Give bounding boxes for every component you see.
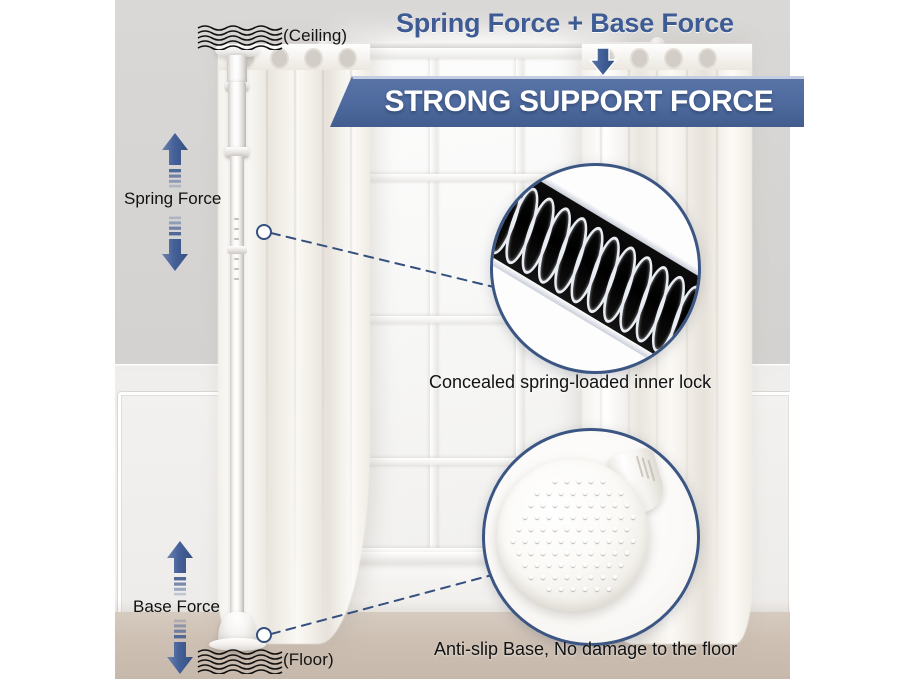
anti-slip-nub [595, 491, 599, 495]
anti-slip-nub [571, 539, 575, 543]
anti-slip-nub [565, 503, 569, 507]
anti-slip-nub [553, 551, 557, 555]
anti-slip-nub [601, 575, 605, 579]
anti-slip-nub [589, 527, 593, 531]
anti-slip-nub [565, 551, 569, 555]
anti-slip-nub [607, 515, 611, 519]
anti-slip-nub [565, 527, 569, 531]
anti-slip-nub [571, 491, 575, 495]
anti-slip-nub [541, 575, 545, 579]
anti-slip-nub [547, 539, 551, 543]
anti-slip-nub [565, 575, 569, 579]
anti-slip-nub [541, 503, 545, 507]
anti-slip-nub [619, 491, 623, 495]
anti-slip-nub [535, 563, 539, 567]
anti-slip-nub [559, 587, 563, 591]
anti-slip-nub [547, 587, 551, 591]
anti-slip-pad [497, 459, 649, 611]
anti-slip-nub [583, 563, 587, 567]
anti-slip-nub [613, 575, 617, 579]
anti-slip-nub [529, 527, 533, 531]
status-badge: STRONG SUPPORT FORCE [328, 76, 804, 127]
anti-slip-nub [595, 563, 599, 567]
anti-slip-nub [625, 551, 629, 555]
anti-slip-nub [577, 479, 581, 483]
anti-slip-nub [571, 587, 575, 591]
anti-slip-nub [529, 503, 533, 507]
anti-slip-disc-icon [482, 428, 700, 646]
anti-slip-nub [619, 539, 623, 543]
anti-slip-nub [559, 515, 563, 519]
anti-slip-nub [523, 563, 527, 567]
anti-slip-nub [547, 563, 551, 567]
anti-slip-nub [553, 575, 557, 579]
anti-slip-nub [541, 551, 545, 555]
anti-slip-nub [619, 563, 623, 567]
anti-slip-nub [577, 575, 581, 579]
anti-slip-nub [625, 503, 629, 507]
anti-slip-nub [601, 551, 605, 555]
anti-slip-nub [589, 479, 593, 483]
anti-slip-nub [619, 515, 623, 519]
anti-slip-nub [553, 503, 557, 507]
callout-anchor-dot [257, 628, 271, 642]
anti-slip-nub [601, 527, 605, 531]
anti-slip-nub [595, 539, 599, 543]
anti-slip-nub [547, 491, 551, 495]
anti-slip-nub [607, 563, 611, 567]
anti-slip-nub [523, 539, 527, 543]
anti-slip-nub [607, 587, 611, 591]
page-title: Spring Force + Base Force [396, 8, 734, 39]
anti-slip-nub [631, 539, 635, 543]
anti-slip-nub [589, 575, 593, 579]
anti-slip-nub [523, 515, 527, 519]
down-arrow-icon [588, 47, 618, 77]
anti-slip-nub [541, 527, 545, 531]
anti-slip-nub [595, 587, 599, 591]
anti-slip-nub [553, 527, 557, 531]
anti-slip-nub [601, 479, 605, 483]
coil-spring-icon [490, 163, 701, 374]
anti-slip-nub [571, 515, 575, 519]
anti-slip-nub [559, 491, 563, 495]
anti-slip-nub [613, 551, 617, 555]
anti-slip-nub [559, 539, 563, 543]
anti-slip-nub [631, 515, 635, 519]
anti-slip-nub [517, 527, 521, 531]
anti-slip-nub [553, 479, 557, 483]
anti-slip-nub [535, 491, 539, 495]
anti-slip-nub [583, 539, 587, 543]
anti-slip-nub [607, 539, 611, 543]
infographic-canvas: (Ceiling) (Floor) Spring Force [0, 0, 905, 679]
anti-slip-nub [613, 503, 617, 507]
callout-caption-spring: Concealed spring-loaded inner lock [429, 372, 711, 393]
anti-slip-nub [571, 563, 575, 567]
anti-slip-nub [577, 551, 581, 555]
anti-slip-nub [565, 479, 569, 483]
anti-slip-nub [625, 527, 629, 531]
anti-slip-nub [613, 527, 617, 531]
anti-slip-nub [511, 539, 515, 543]
callout-anchor-dot [257, 225, 271, 239]
anti-slip-nub [583, 515, 587, 519]
anti-slip-nub [601, 503, 605, 507]
anti-slip-nub [583, 491, 587, 495]
anti-slip-nub [547, 515, 551, 519]
callout-caption-base: Anti-slip Base, No damage to the floor [434, 639, 737, 660]
anti-slip-nub [595, 515, 599, 519]
anti-slip-nub [577, 527, 581, 531]
anti-slip-nub [559, 563, 563, 567]
anti-slip-nub [529, 575, 533, 579]
anti-slip-nub [589, 503, 593, 507]
anti-slip-nub [607, 491, 611, 495]
anti-slip-nub [535, 515, 539, 519]
anti-slip-nub [583, 587, 587, 591]
anti-slip-nub [517, 551, 521, 555]
anti-slip-nub [589, 551, 593, 555]
anti-slip-nub [577, 503, 581, 507]
anti-slip-nub [529, 551, 533, 555]
anti-slip-nub [535, 539, 539, 543]
